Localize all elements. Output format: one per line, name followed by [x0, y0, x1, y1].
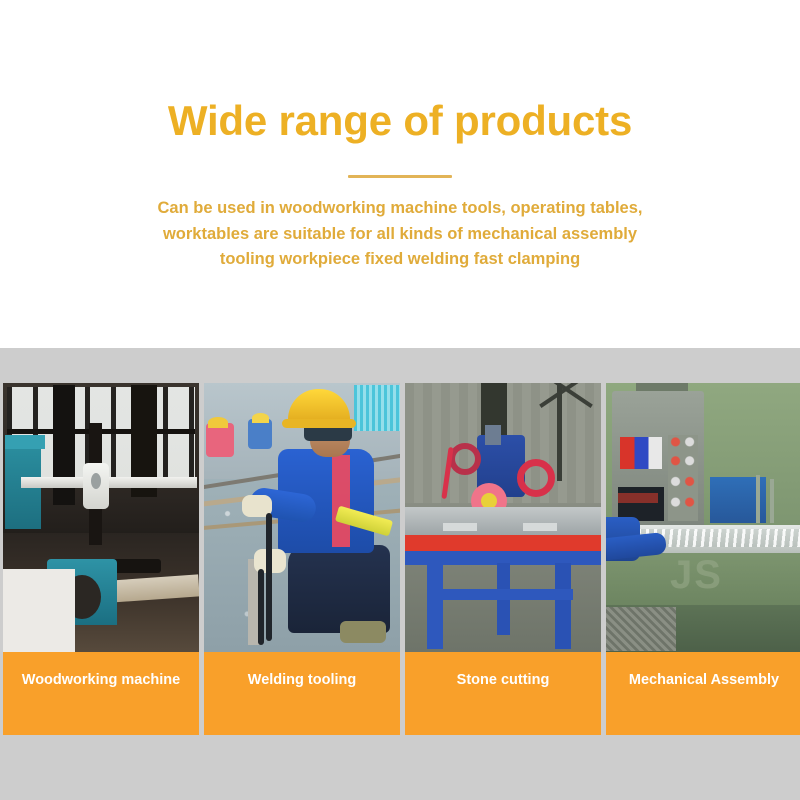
card-caption-label: Mechanical Assembly	[606, 672, 800, 688]
worker-welding-rebar-photo	[204, 383, 400, 652]
product-card-stone-cutting[interactable]: Stone cutting	[405, 383, 601, 735]
card-caption-band: Mechanical Assembly	[606, 652, 800, 735]
product-card-woodworking-machine[interactable]: Woodworking machine	[3, 383, 199, 735]
card-caption-label: Woodworking machine	[3, 672, 199, 688]
product-card-mechanical-assembly[interactable]: JS Mechanical Assembly	[606, 383, 800, 735]
title-divider	[348, 175, 452, 178]
card-caption-band: Welding tooling	[204, 652, 400, 735]
green-cnc-machine-photo: JS	[606, 383, 800, 652]
blue-worktable-stone-cutter-photo	[405, 383, 601, 652]
card-caption-label: Stone cutting	[405, 672, 601, 688]
product-card-list: Woodworking machine	[3, 383, 797, 735]
card-caption-band: Stone cutting	[405, 652, 601, 735]
product-card-welding-tooling[interactable]: Welding tooling	[204, 383, 400, 735]
card-caption-label: Welding tooling	[204, 672, 400, 688]
workshop-woodworking-machine-photo	[3, 383, 199, 652]
machine-watermark-text: JS	[670, 555, 770, 595]
page-subtitle: Can be used in woodworking machine tools…	[145, 196, 655, 273]
card-caption-band: Woodworking machine	[3, 652, 199, 735]
product-gallery-panel: Woodworking machine	[0, 348, 800, 800]
page-title: Wide range of products	[0, 98, 800, 143]
hero-section: Wide range of products Can be used in wo…	[0, 0, 800, 348]
